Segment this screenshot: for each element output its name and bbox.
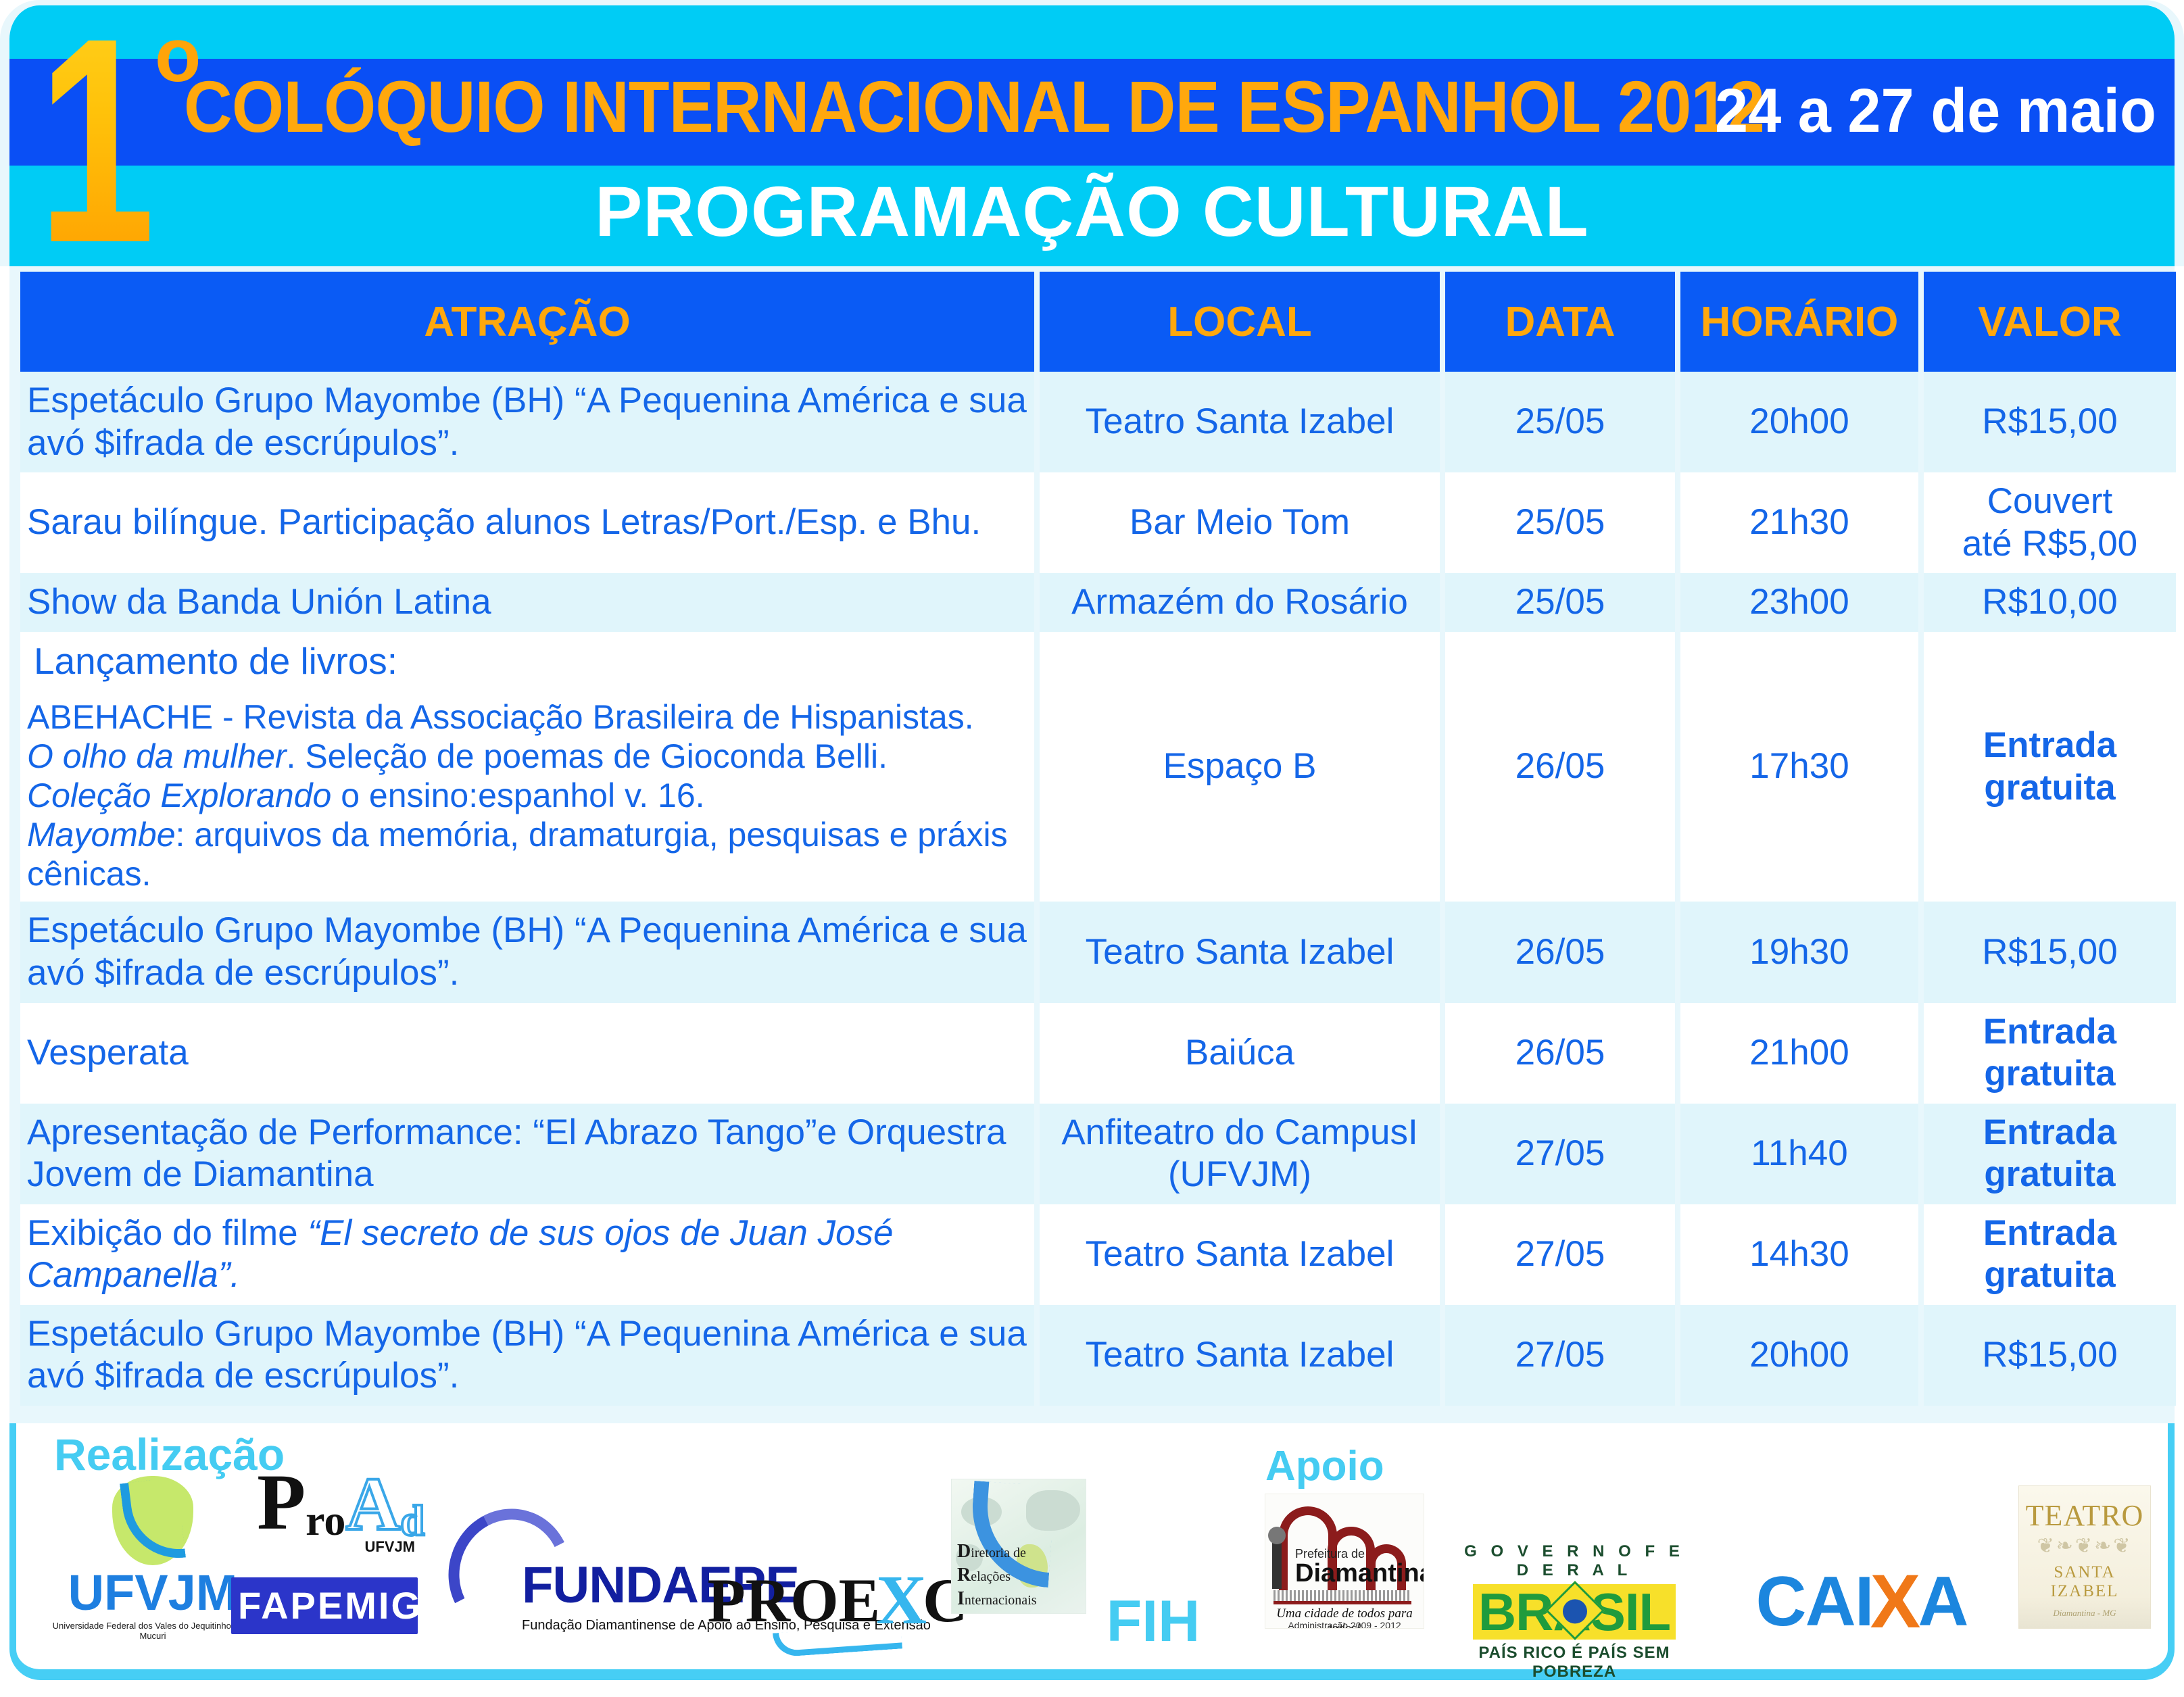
cell-atracao: Show da Banda Unión Latina	[20, 573, 1034, 632]
column-header-horario: HORÁRIO	[1680, 272, 1918, 372]
brasil-slogan: PAÍS RICO É PAÍS SEM POBREZA	[1463, 1644, 1686, 1681]
column-header-local: LOCAL	[1040, 272, 1440, 372]
cell-atracao: Sarau bilíngue. Participação alunos Letr…	[20, 472, 1034, 573]
ufvjm-leaf-icon	[99, 1476, 207, 1565]
cell-horario: 23h00	[1680, 573, 1918, 632]
table-row: Exibição do filme “El secreto de sus ojo…	[20, 1204, 2176, 1305]
brasil-governo-label: G O V E R N O F E D E R A L	[1463, 1542, 1686, 1580]
cell-local: Bar Meio Tom	[1040, 472, 1440, 573]
dri-cap-i: I	[957, 1588, 965, 1609]
local-line-2: (UFVJM)	[1168, 1154, 1311, 1194]
teatro-santa-izabel-logo: TEATRO ❦❧❦❧❦ SANTA IZABEL Diamantina - M…	[2010, 1485, 2159, 1629]
diamantina-arches-icon: Prefeitura de Diamantina Uma cidade de t…	[1265, 1494, 1424, 1629]
cell-valor: Entrada gratuita	[1924, 1003, 2176, 1104]
books-heading: Lançamento de livros:	[27, 640, 1027, 683]
dri-line-2: elações	[971, 1569, 1011, 1584]
cell-local: Espaço B	[1040, 632, 1440, 902]
cell-local: Teatro Santa Izabel	[1040, 1204, 1440, 1305]
valor-line-1: Entrada	[1983, 1213, 2116, 1253]
dri-line-3: nternacionais	[965, 1593, 1037, 1608]
cell-local: Teatro Santa Izabel	[1040, 372, 1440, 472]
book-title-italic: Mayombe	[27, 816, 176, 854]
table-row: Espetáculo Grupo Mayombe (BH) “A Pequeni…	[20, 372, 2176, 472]
proad-letter-d: d	[400, 1499, 424, 1542]
page-subtitle: PROGRAMAÇÃO CULTURAL	[9, 176, 2175, 247]
cell-horario: 14h30	[1680, 1204, 1918, 1305]
fih-wordmark: FIH	[1092, 1592, 1214, 1650]
cell-horario: 20h00	[1680, 1305, 1918, 1406]
brasil-wordmark: BRASIL	[1473, 1584, 1676, 1640]
cell-horario: 21h00	[1680, 1003, 1918, 1104]
teatro-name: SANTA IZABEL	[2019, 1563, 2150, 1601]
cell-atracao: Apresentação de Performance: “El Abrazo …	[20, 1104, 1034, 1204]
table-row: Lançamento de livros: ABEHACHE - Revista…	[20, 632, 2176, 902]
valor-line-1: Entrada	[1983, 725, 2116, 765]
cell-valor: Entrada gratuita	[1924, 632, 2176, 902]
cell-valor: R$15,00	[1924, 372, 2176, 472]
cell-valor: R$15,00	[1924, 1305, 2176, 1406]
column-header-atracao: ATRAÇÃO	[20, 272, 1034, 372]
book-item: Coleção Explorando o ensino:espanhol v. …	[27, 776, 1027, 815]
cell-local: Armazém do Rosário	[1040, 573, 1440, 632]
book-title-italic: O olho da mulher	[27, 737, 287, 775]
governo-federal-brasil-logo: G O V E R N O F E D E R A L BRASIL PAÍS …	[1463, 1542, 1686, 1681]
dri-cap-r: R	[957, 1565, 971, 1585]
realizacao-label: Realização	[54, 1429, 285, 1480]
ordinal-number: 1	[38, 0, 150, 287]
cell-local: Teatro Santa Izabel	[1040, 902, 1440, 1002]
proad-letter-a: A	[345, 1467, 400, 1542]
poster-footer: Realização Apoio UFVJM Universidade Fede…	[9, 1423, 2175, 1680]
table-row: Espetáculo Grupo Mayombe (BH) “A Pequeni…	[20, 1305, 2176, 1406]
table-row: Apresentação de Performance: “El Abrazo …	[20, 1104, 2176, 1204]
cell-atracao: Espetáculo Grupo Mayombe (BH) “A Pequeni…	[20, 372, 1034, 472]
dri-text: Diretoria de Relações Internacionais	[957, 1540, 1037, 1610]
valor-line-2: gratuita	[1984, 768, 2115, 808]
cell-horario: 21h30	[1680, 472, 1918, 573]
table-row: Espetáculo Grupo Mayombe (BH) “A Pequeni…	[20, 902, 2176, 1002]
cell-horario: 19h30	[1680, 902, 1918, 1002]
schedule-table: ATRAÇÃO LOCAL DATA HORÁRIO VALOR Espetác…	[15, 272, 2181, 1406]
page-title: COLÓQUIO INTERNACIONAL DE ESPANHOL 2012	[184, 70, 1764, 143]
book-item: O olho da mulher. Seleção de poemas de G…	[27, 737, 1027, 776]
cell-data: 27/05	[1445, 1305, 1675, 1406]
cell-atracao: Espetáculo Grupo Mayombe (BH) “A Pequeni…	[20, 1305, 1034, 1406]
cell-data: 27/05	[1445, 1104, 1675, 1204]
schedule-table-container: ATRAÇÃO LOCAL DATA HORÁRIO VALOR Espetác…	[9, 266, 2175, 1423]
fih-logo: FIH	[1092, 1592, 1214, 1650]
dri-line-1: iretoria de	[971, 1546, 1026, 1560]
cell-data: 25/05	[1445, 573, 1675, 632]
cell-valor: Entrada gratuita	[1924, 1104, 2176, 1204]
proad-logo: P ro A d UFVJM	[253, 1462, 429, 1556]
valor-line-2: gratuita	[1984, 1255, 2115, 1295]
column-header-data: DATA	[1445, 272, 1675, 372]
teatro-wordmark: TEATRO	[2019, 1498, 2150, 1533]
caixa-logo: CAI X A	[1733, 1564, 1990, 1640]
table-row: Vesperata Baiúca 26/05 21h00 Entrada gra…	[20, 1003, 2176, 1104]
proad-letter-p: P	[257, 1462, 306, 1542]
cell-data: 26/05	[1445, 902, 1675, 1002]
dri-cap-d: D	[957, 1541, 971, 1562]
ufvjm-logo: UFVJM Universidade Federal dos Vales do …	[51, 1476, 254, 1641]
ufvjm-wordmark: UFVJM	[51, 1568, 254, 1618]
atracao-prefix: Exibição do filme	[27, 1213, 308, 1253]
cell-data: 27/05	[1445, 1204, 1675, 1305]
valor-line-2: gratuita	[1984, 1154, 2115, 1194]
teatro-location: Diamantina - MG	[2019, 1608, 2150, 1619]
valor-line-1: Couvert	[1987, 481, 2113, 521]
cell-local: Teatro Santa Izabel	[1040, 1305, 1440, 1406]
proexc-logo: PROE X C	[719, 1565, 956, 1653]
cell-atracao: Lançamento de livros: ABEHACHE - Revista…	[20, 632, 1034, 902]
cell-data: 26/05	[1445, 1003, 1675, 1104]
event-dates: 24 a 27 de maio	[1715, 80, 2156, 142]
table-header-row: ATRAÇÃO LOCAL DATA HORÁRIO VALOR	[20, 272, 2176, 372]
cell-horario: 17h30	[1680, 632, 1918, 902]
caixa-letter-a: A	[1918, 1567, 1967, 1637]
cell-atracao: Espetáculo Grupo Mayombe (BH) “A Pequeni…	[20, 902, 1034, 1002]
proexc-letters-proe: PROE	[707, 1569, 880, 1631]
cell-valor: R$15,00	[1924, 902, 2176, 1002]
teatro-ornament-icon: ❦❧❦❧❦	[2019, 1534, 2150, 1558]
valor-line-2: gratuita	[1984, 1054, 2115, 1093]
table-row: Show da Banda Unión Latina Armazém do Ro…	[20, 573, 2176, 632]
local-line-1: Anfiteatro do CampusI	[1061, 1112, 1417, 1152]
book-title-italic: Coleção Explorando	[27, 777, 331, 814]
cell-horario: 20h00	[1680, 372, 1918, 472]
cell-atracao: Exibição do filme “El secreto de sus ojo…	[20, 1204, 1034, 1305]
prefeitura-diamantina-logo: Prefeitura de Diamantina Uma cidade de t…	[1260, 1494, 1429, 1629]
diamantina-admin: Administração 2009 - 2012	[1265, 1620, 1424, 1629]
world-map-icon: Diretoria de Relações Internacionais	[951, 1479, 1086, 1614]
valor-line-1: Entrada	[1983, 1012, 2116, 1052]
book-rest-2: o ensino:espanhol v. 16.	[331, 777, 704, 814]
cell-data: 25/05	[1445, 472, 1675, 573]
cell-horario: 11h40	[1680, 1104, 1918, 1204]
poster-header: 1 o COLÓQUIO INTERNACIONAL DE ESPANHOL 2…	[0, 0, 2184, 266]
cell-atracao: Vesperata	[20, 1003, 1034, 1104]
cell-valor: Couvert até R$5,00	[1924, 472, 2176, 573]
diretoria-relacoes-internacionais-logo: Diretoria de Relações Internacionais	[941, 1479, 1096, 1614]
valor-line-2: até R$5,00	[1962, 524, 2137, 564]
ordinal-degree-symbol: o	[155, 18, 201, 93]
cell-data: 26/05	[1445, 632, 1675, 902]
diamantina-wordmark: Diamantina	[1295, 1559, 1424, 1588]
cell-local: Anfiteatro do CampusI (UFVJM)	[1040, 1104, 1440, 1204]
cell-valor: Entrada gratuita	[1924, 1204, 2176, 1305]
apoio-label: Apoio	[1265, 1442, 1384, 1490]
table-row: Sarau bilíngue. Participação alunos Letr…	[20, 472, 2176, 573]
ufvjm-subtitle: Universidade Federal dos Vales do Jequit…	[51, 1621, 254, 1641]
caixa-letters-cai: CAI	[1756, 1567, 1873, 1637]
caixa-letter-x: X	[1870, 1564, 1921, 1640]
column-header-valor: VALOR	[1924, 272, 2176, 372]
fapemig-logo: FAPEMIG	[231, 1577, 418, 1634]
book-item: ABEHACHE - Revista da Associação Brasile…	[27, 697, 1027, 737]
poster-root: 1 o COLÓQUIO INTERNACIONAL DE ESPANHOL 2…	[0, 0, 2184, 1697]
cell-local: Baiúca	[1040, 1003, 1440, 1104]
proad-letters-ro: ro	[306, 1499, 345, 1542]
book-item: Mayombe: arquivos da memória, dramaturgi…	[27, 815, 1027, 893]
fapemig-wordmark: FAPEMIG	[231, 1577, 418, 1634]
book-rest-1: . Seleção de poemas de Gioconda Belli.	[287, 737, 888, 775]
valor-line-1: Entrada	[1983, 1112, 2116, 1152]
cell-valor: R$10,00	[1924, 573, 2176, 632]
cell-data: 25/05	[1445, 372, 1675, 472]
